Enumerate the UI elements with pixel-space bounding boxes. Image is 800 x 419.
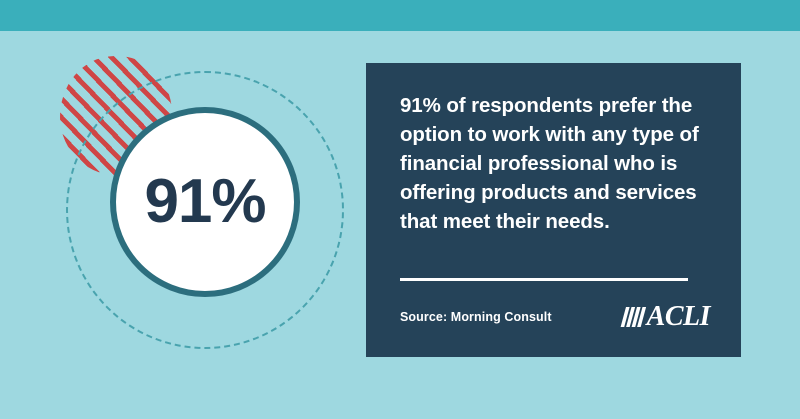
panel-footer: Source: Morning Consult ACLI	[400, 297, 710, 337]
callout-panel: 91% of respondents prefer the option to …	[366, 63, 741, 357]
stat-value: 91%	[144, 171, 265, 233]
infographic-canvas: 91% 91% of respondents prefer the option…	[0, 0, 800, 419]
stat-graphic: 91%	[0, 31, 366, 419]
acli-logo: ACLI	[620, 303, 710, 331]
panel-divider	[400, 278, 688, 281]
panel-headline: 91% of respondents prefer the option to …	[400, 91, 709, 237]
acli-wordmark: ACLI	[647, 303, 710, 331]
top-accent-band	[0, 0, 800, 31]
stat-circle: 91%	[110, 107, 300, 297]
source-text: Source: Morning Consult	[400, 310, 552, 324]
logo-slashes-icon	[620, 304, 646, 330]
